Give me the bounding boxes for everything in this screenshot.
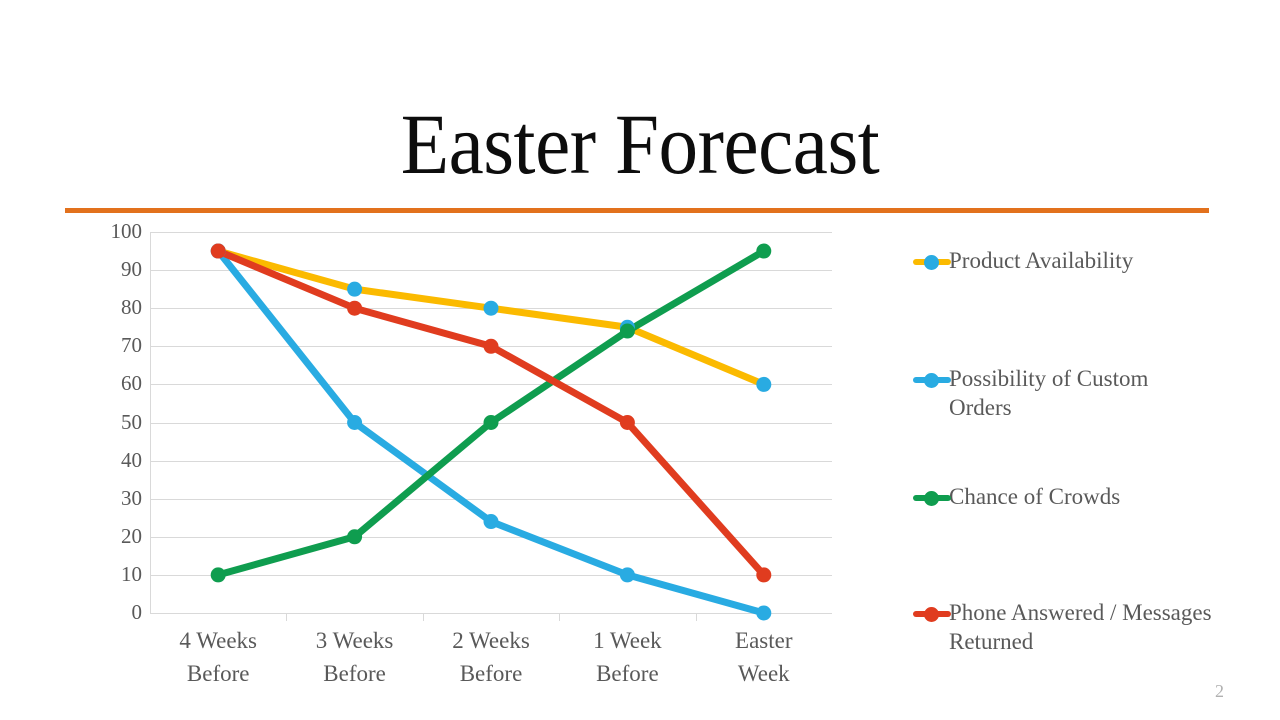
data-point-marker: [484, 415, 499, 430]
x-axis-tick-label: 3 WeeksBefore: [286, 624, 422, 690]
legend-marker-icon: [913, 368, 951, 392]
data-point-marker: [484, 514, 499, 529]
legend-label: Chance of Crowds: [949, 482, 1120, 511]
legend-marker-icon: [913, 602, 951, 626]
legend-item[interactable]: Possibility of Custom Orders: [913, 364, 1213, 422]
x-axis: 4 WeeksBefore3 WeeksBefore2 WeeksBefore1…: [150, 624, 832, 694]
page-title: Easter Forecast: [51, 96, 1229, 192]
y-axis: 1009080706050403020100: [60, 226, 142, 618]
y-axis-tick-label: 30: [60, 488, 142, 509]
series-line: [218, 251, 764, 384]
y-axis-tick-label: 80: [60, 297, 142, 318]
legend-marker-icon: [913, 250, 951, 274]
data-point-marker: [620, 415, 635, 430]
y-axis-tick-label: 60: [60, 373, 142, 394]
y-axis-tick-label: 70: [60, 335, 142, 356]
line-chart: 1009080706050403020100 4 WeeksBefore3 We…: [60, 226, 860, 696]
page-number: 2: [1215, 681, 1224, 702]
title-divider: [65, 208, 1209, 213]
y-axis-tick-label: 100: [60, 221, 142, 242]
y-axis-tick-label: 50: [60, 412, 142, 433]
data-point-marker: [484, 301, 499, 316]
x-axis-tick: [696, 613, 697, 621]
legend-item[interactable]: Product Availability: [913, 246, 1213, 275]
data-point-marker: [620, 567, 635, 582]
data-point-marker: [211, 567, 226, 582]
chart-legend: Product AvailabilityPossibility of Custo…: [913, 246, 1213, 666]
data-point-marker: [756, 244, 771, 259]
data-point-marker: [347, 282, 362, 297]
data-point-marker: [347, 301, 362, 316]
x-axis-tick-label: 1 WeekBefore: [559, 624, 695, 690]
y-axis-tick-label: 20: [60, 526, 142, 547]
legend-item[interactable]: Phone Answered / Messages Returned: [913, 598, 1213, 656]
x-axis-tick: [559, 613, 560, 621]
y-axis-tick-label: 0: [60, 602, 142, 623]
data-point-marker: [756, 567, 771, 582]
plot-area: 1009080706050403020100 4 WeeksBefore3 We…: [60, 226, 860, 626]
gridline: [150, 613, 832, 614]
x-axis-tick-label: 4 WeeksBefore: [150, 624, 286, 690]
legend-label: Possibility of Custom Orders: [949, 364, 1213, 422]
legend-marker-icon: [913, 486, 951, 510]
data-point-marker: [620, 324, 635, 339]
y-axis-tick-label: 90: [60, 259, 142, 280]
x-axis-tick: [423, 613, 424, 621]
x-axis-tick-label: 2 WeeksBefore: [423, 624, 559, 690]
data-point-marker: [756, 606, 771, 621]
x-axis-tick: [286, 613, 287, 621]
legend-label: Product Availability: [949, 246, 1133, 275]
legend-item[interactable]: Chance of Crowds: [913, 482, 1213, 511]
series-layer: [150, 232, 832, 613]
data-point-marker: [211, 244, 226, 259]
data-point-marker: [756, 377, 771, 392]
legend-label: Phone Answered / Messages Returned: [949, 598, 1213, 656]
y-axis-tick-label: 10: [60, 564, 142, 585]
data-point-marker: [347, 415, 362, 430]
data-point-marker: [347, 529, 362, 544]
data-point-marker: [484, 339, 499, 354]
y-axis-tick-label: 40: [60, 450, 142, 471]
x-axis-tick-label: EasterWeek: [696, 624, 832, 690]
